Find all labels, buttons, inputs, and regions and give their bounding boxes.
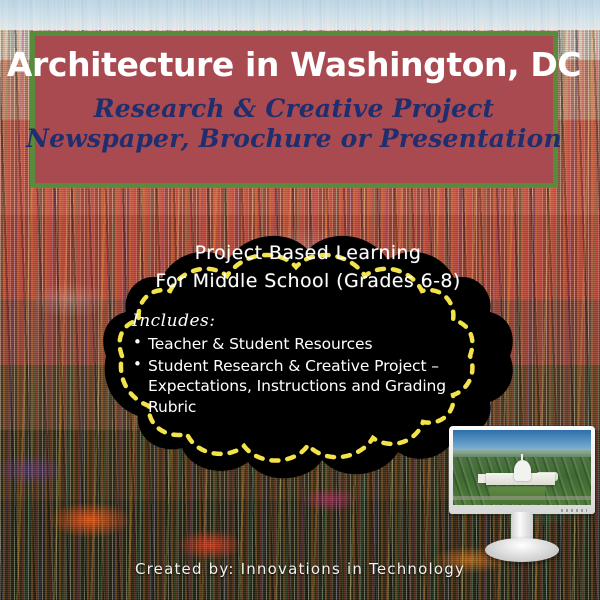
subtitle-line-1: Research & Creative Project — [26, 94, 562, 125]
background-sky-strip — [0, 0, 600, 30]
bullet-icon: • — [133, 333, 142, 353]
list-item: • Teacher & Student Resources — [132, 334, 478, 355]
monitor-base — [485, 538, 559, 562]
product-cover: Architecture in Washington, DC Research … — [0, 0, 600, 600]
photo-lawn — [490, 486, 545, 504]
capitol-dome-icon — [514, 460, 531, 481]
bullet-icon: • — [133, 355, 142, 375]
photo-road — [453, 496, 591, 500]
page-subtitle: Research & Creative Project Newspaper, B… — [26, 94, 562, 155]
monitor-screen — [453, 430, 591, 505]
list-item-label: Student Research & Creative Project – Ex… — [148, 357, 446, 416]
includes-list: • Teacher & Student Resources • Student … — [132, 334, 478, 418]
monitor-brand-mark — [561, 509, 587, 512]
list-item: • Student Research & Creative Project – … — [132, 356, 478, 418]
plaque-headline-1: Project Based Learning — [195, 240, 422, 268]
list-item-label: Teacher & Student Resources — [148, 335, 372, 353]
page-title: Architecture in Washington, DC — [7, 48, 581, 83]
credit-line: Created by: Innovations in Technology — [0, 560, 600, 578]
plaque-headline-2: For Middle School (Grades 6-8) — [155, 268, 460, 296]
monitor-bezel — [449, 426, 595, 514]
computer-monitor — [449, 426, 595, 574]
header-banner: Architecture in Washington, DC Research … — [30, 31, 558, 188]
includes-label: Includes: — [132, 311, 215, 331]
subtitle-line-2: Newspaper, Brochure or Presentation — [26, 124, 562, 155]
